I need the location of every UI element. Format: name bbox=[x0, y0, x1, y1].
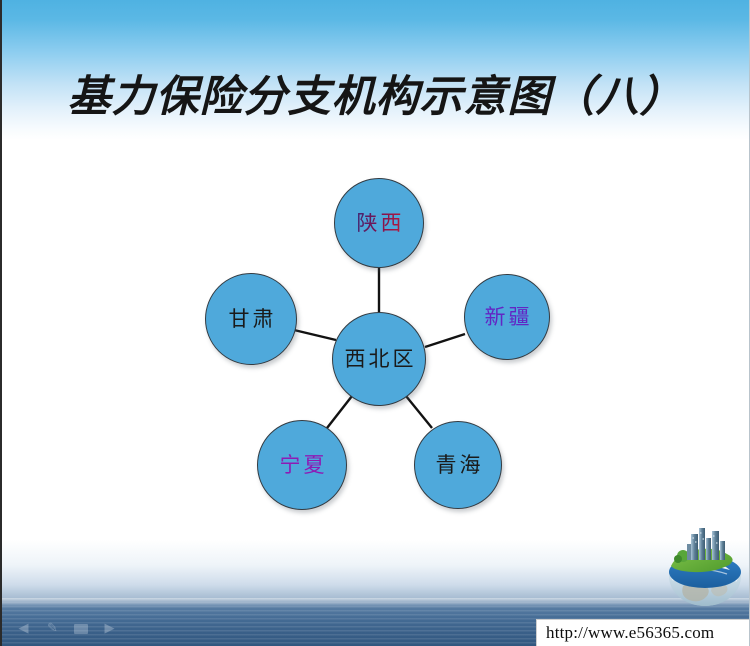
bottom-left-icon-strip: ◀ ✎ ▶ bbox=[16, 622, 117, 635]
presentation-slide: 基力保险分支机构示意图（八） 陕西 甘肃 新疆 西北区 bbox=[0, 0, 750, 646]
slide-title: 基力保险分支机构示意图（八） bbox=[2, 62, 749, 124]
node-shaanxi[interactable]: 陕西 bbox=[334, 178, 424, 268]
globe-city-logo bbox=[661, 524, 749, 620]
node-gansu[interactable]: 甘肃 bbox=[205, 273, 297, 365]
pencil-icon[interactable]: ✎ bbox=[45, 622, 60, 635]
node-label-qinghai: 青海 bbox=[433, 455, 484, 476]
rectangle-icon[interactable] bbox=[74, 624, 88, 634]
node-xinjiang[interactable]: 新疆 bbox=[464, 274, 550, 360]
horizon-haze-background bbox=[2, 540, 749, 602]
node-label-xinjiang: 新疆 bbox=[482, 307, 533, 328]
back-arrow-icon[interactable]: ◀ bbox=[16, 622, 31, 635]
watermark-url: http://www.e56365.com bbox=[537, 623, 714, 643]
node-label-center: 西北区 bbox=[342, 349, 417, 370]
node-center-northwest-region[interactable]: 西北区 bbox=[332, 312, 426, 406]
node-label-gansu: 甘肃 bbox=[226, 309, 277, 330]
node-ningxia[interactable]: 宁夏 bbox=[257, 420, 347, 510]
node-label-ningxia: 宁夏 bbox=[277, 455, 328, 476]
water-glint bbox=[2, 598, 749, 608]
forward-arrow-icon[interactable]: ▶ bbox=[102, 622, 117, 635]
node-qinghai[interactable]: 青海 bbox=[414, 421, 502, 509]
node-label-shaanxi: 陕西 bbox=[354, 213, 405, 234]
watermark-box: http://www.e56365.com bbox=[536, 619, 750, 646]
